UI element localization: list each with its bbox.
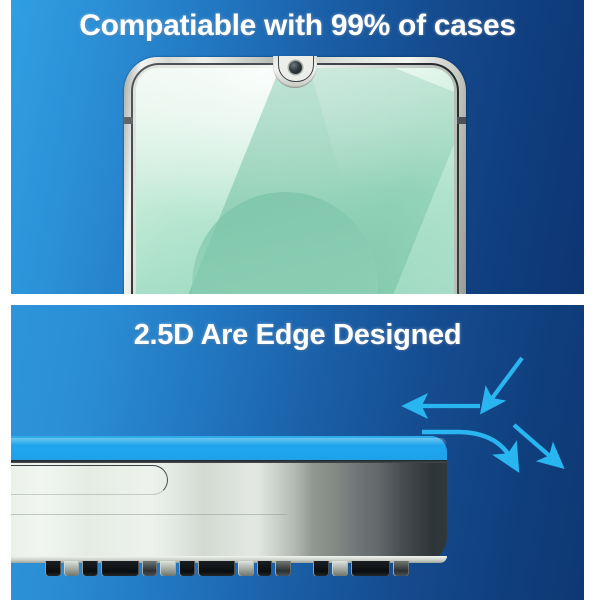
grille-port [351,561,390,576]
grille-port [238,561,254,576]
grille-port [64,561,80,576]
grille-port [332,561,348,576]
antenna-band-left [124,117,133,124]
charging-port-group [313,561,409,576]
screen-strip-highlight [11,438,447,445]
panel-edge-design: 2.5D Are Edge Designed [11,305,584,600]
grille-port [101,561,139,576]
body-seam [11,514,287,515]
grille-port [198,561,236,576]
curved-edge-deflection-arrow [422,432,510,457]
screen-protector-strip [11,436,447,460]
panel-divider [0,294,600,305]
outgoing-impact-arrow [514,425,552,458]
incoming-impact-arrow [490,358,522,401]
grille-port [45,561,61,576]
speaker-grille [45,561,291,576]
smartphone-edge-closeup [11,436,447,600]
panel-compatibility: Compatiable with 99% of cases [11,0,584,294]
grille-port [393,561,409,576]
panel-heading-edge-design: 2.5D Are Edge Designed [11,318,584,353]
impact-deflection-arrows [392,353,582,483]
grille-port [142,561,158,576]
grille-port [313,561,329,576]
product-feature-image: Compatiable with 99% of cases [0,0,600,600]
grille-port [275,561,291,576]
grille-port [82,561,98,576]
grille-port [160,561,176,576]
front-camera-icon [289,61,302,74]
grille-port [179,561,195,576]
phone-screen [136,68,454,294]
panel-heading-compatibility: Compatiable with 99% of cases [11,8,584,44]
smartphone-front-view [124,57,466,294]
grille-port [257,561,273,576]
antenna-band-right [457,117,466,124]
antenna-groove [11,465,168,495]
